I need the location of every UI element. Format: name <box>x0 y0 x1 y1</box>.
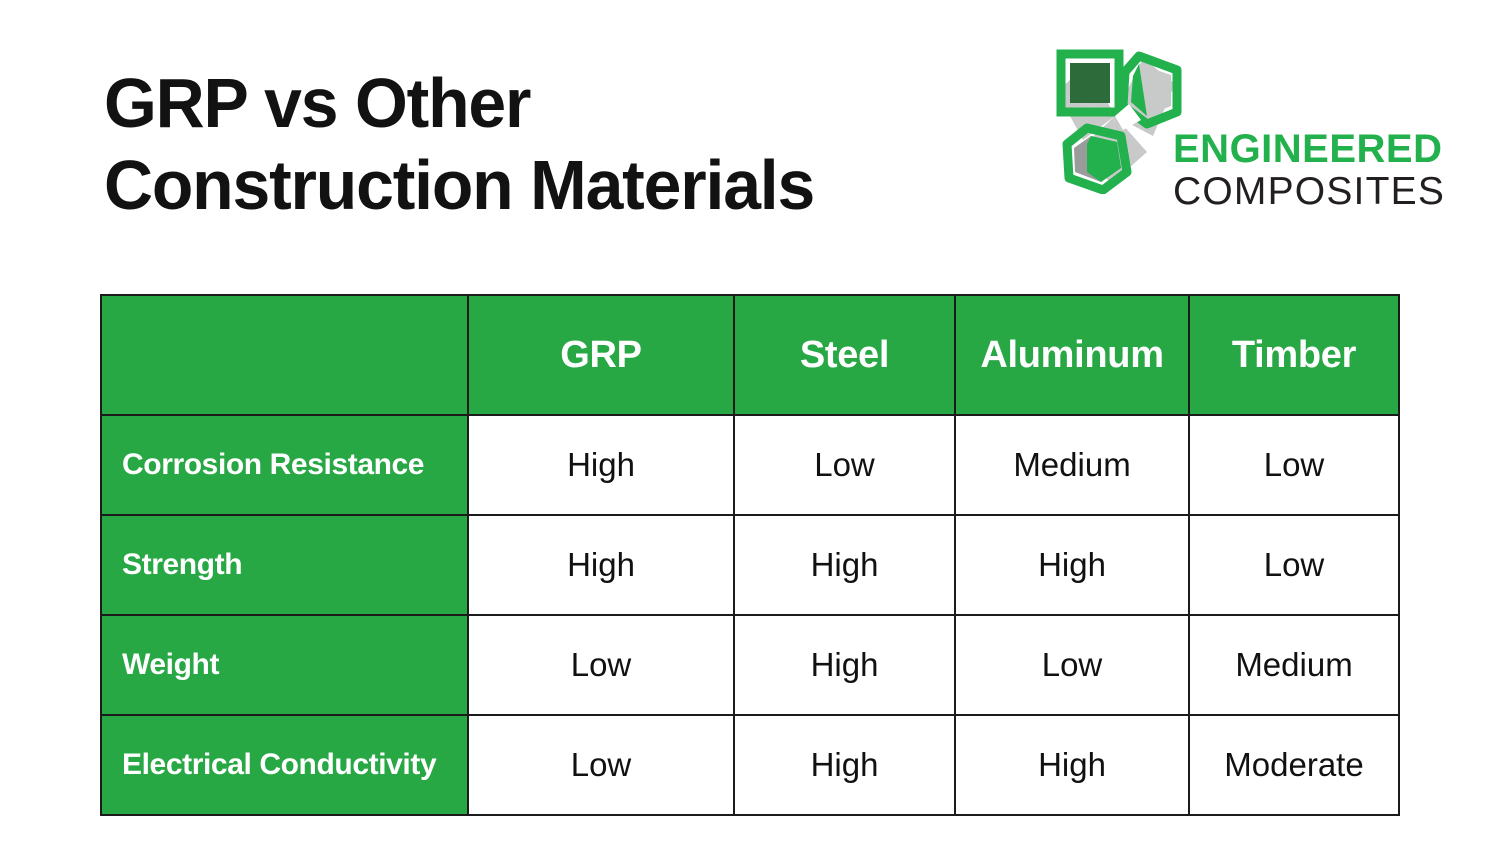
cell-electrical-conductivity-aluminum: High <box>955 715 1189 815</box>
cell-weight-timber: Medium <box>1189 615 1399 715</box>
cell-weight-aluminum: Low <box>955 615 1189 715</box>
brand-wordmark: ENGINEERED COMPOSITES <box>1173 128 1433 214</box>
page-title-line-2: Construction Materials <box>104 144 1035 226</box>
page-title: GRP vs Other Construction Materials <box>104 62 1064 226</box>
cell-electrical-conductivity-timber: Moderate <box>1189 715 1399 815</box>
cell-strength-steel: High <box>734 515 955 615</box>
cell-strength-timber: Low <box>1189 515 1399 615</box>
cell-electrical-conductivity-grp: Low <box>468 715 734 815</box>
row-label-strength: Strength <box>101 515 468 615</box>
cell-corrosion-resistance-steel: Low <box>734 415 955 515</box>
brand-logo: ENGINEERED COMPOSITES <box>1043 44 1393 214</box>
brand-word-engineered: ENGINEERED <box>1173 128 1433 170</box>
cell-corrosion-resistance-timber: Low <box>1189 415 1399 515</box>
column-header-aluminum: Aluminum <box>955 295 1189 415</box>
column-header-steel: Steel <box>734 295 955 415</box>
brand-word-composites: COMPOSITES <box>1173 170 1433 214</box>
cell-corrosion-resistance-aluminum: Medium <box>955 415 1189 515</box>
table-row: Electrical Conductivity Low High High Mo… <box>101 715 1399 815</box>
cell-corrosion-resistance-grp: High <box>468 415 734 515</box>
column-header-timber: Timber <box>1189 295 1399 415</box>
cell-strength-aluminum: High <box>955 515 1189 615</box>
table-body: Corrosion Resistance High Low Medium Low… <box>101 415 1399 815</box>
cell-electrical-conductivity-steel: High <box>734 715 955 815</box>
materials-comparison-table: GRP Steel Aluminum Timber Corrosion Resi… <box>100 294 1400 816</box>
table-row: Weight Low High Low Medium <box>101 615 1399 715</box>
slide-canvas: GRP vs Other Construction Materials <box>0 0 1500 844</box>
cell-weight-grp: Low <box>468 615 734 715</box>
row-label-weight: Weight <box>101 615 468 715</box>
page-title-line-1: GRP vs Other <box>104 62 1035 144</box>
row-label-corrosion-resistance: Corrosion Resistance <box>101 415 468 515</box>
table-row: Strength High High High Low <box>101 515 1399 615</box>
pinwheel-logo-icon <box>1043 44 1193 194</box>
column-header-grp: GRP <box>468 295 734 415</box>
cell-weight-steel: High <box>734 615 955 715</box>
table-header: GRP Steel Aluminum Timber <box>101 295 1399 415</box>
cell-strength-grp: High <box>468 515 734 615</box>
table-corner-cell <box>101 295 468 415</box>
row-label-electrical-conductivity: Electrical Conductivity <box>101 715 468 815</box>
table-row: Corrosion Resistance High Low Medium Low <box>101 415 1399 515</box>
table-header-row: GRP Steel Aluminum Timber <box>101 295 1399 415</box>
